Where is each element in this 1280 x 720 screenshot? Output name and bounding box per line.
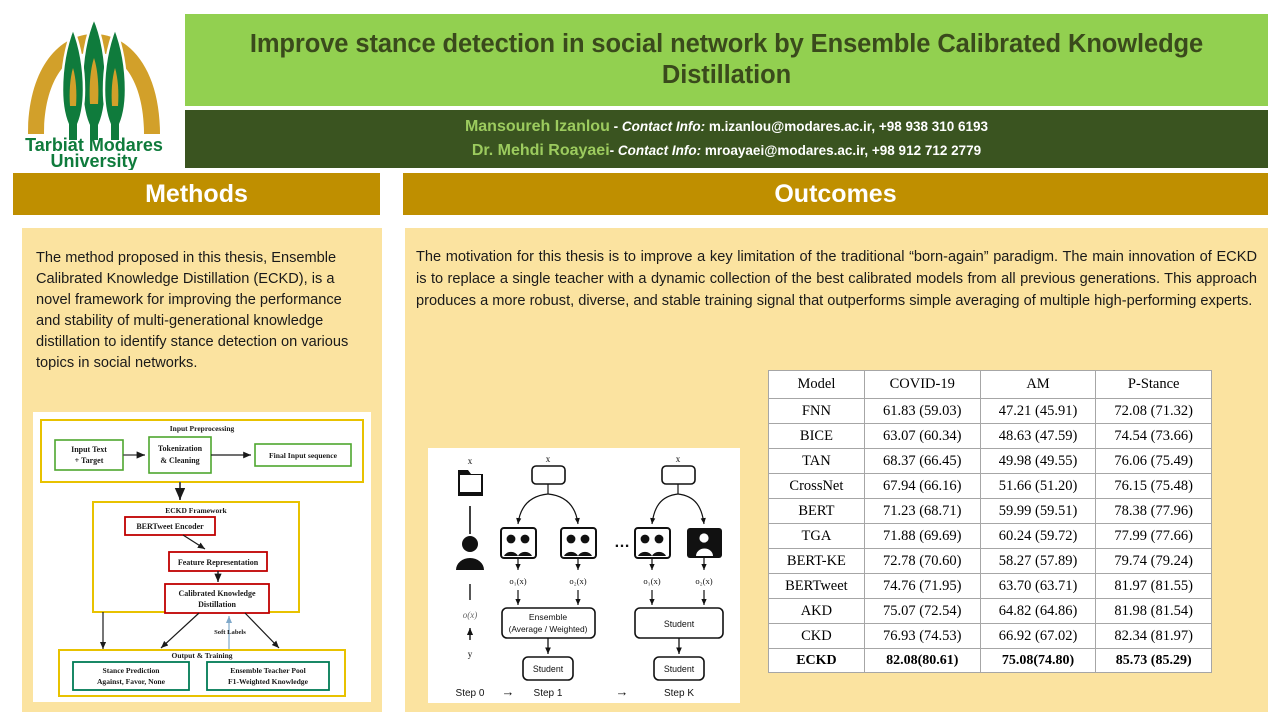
cell-covid: 71.88 (69.69) (864, 524, 980, 549)
distillation-steps-svg: x o(x) y x (428, 448, 740, 703)
outcomes-body-text: The motivation for this thesis is to imp… (416, 246, 1257, 313)
cell-am: 58.27 (57.89) (980, 549, 1096, 574)
table-row: FNN61.83 (59.03)47.21 (45.91)72.08 (71.3… (769, 399, 1212, 424)
cell-covid: 82.08(80.61) (864, 649, 980, 673)
poster-title-banner: Improve stance detection in social netwo… (185, 14, 1268, 106)
table-header-row: Model COVID-19 AM P-Stance (769, 371, 1212, 399)
method-flowchart-svg: Input Preprocessing Input Text + Target … (33, 412, 371, 702)
cell-pstance: 77.99 (77.66) (1096, 524, 1212, 549)
person-icon (456, 536, 484, 570)
results-table: Model COVID-19 AM P-Stance FNN61.83 (59.… (768, 370, 1212, 673)
step1-x-label: x (546, 454, 551, 464)
ensemble-label-2: (Average / Weighted) (509, 624, 588, 634)
soft-labels-caption: Soft Labels (214, 629, 246, 636)
cell-covid: 74.76 (71.95) (864, 574, 980, 599)
step1-o1-label: o₁(x) (509, 576, 526, 586)
column-header-model: Model (769, 371, 865, 399)
teacher-icon-2 (561, 528, 596, 558)
step-caption-0: Step 0 (456, 688, 485, 699)
step1-branch-left (518, 494, 548, 524)
arrow-ckd-to-pool (245, 613, 279, 648)
contact-value: mroayaei@modares.ac.ir, +98 912 712 2779 (701, 143, 981, 158)
cell-model: CKD (769, 624, 865, 649)
box-tokenization (149, 437, 211, 473)
step1-input-box (532, 466, 565, 484)
table-row: CKD76.93 (74.53)66.92 (67.02)82.34 (81.9… (769, 624, 1212, 649)
box-label-input-text-2: + Target (75, 456, 104, 465)
section-header-methods: Methods (13, 173, 380, 215)
cell-pstance: 82.34 (81.97) (1096, 624, 1212, 649)
author-name: Mansoureh Izanlou (465, 118, 610, 135)
cell-covid: 68.37 (66.45) (864, 449, 980, 474)
cell-am: 47.21 (45.91) (980, 399, 1096, 424)
column-header-pstance: P-Stance (1096, 371, 1212, 399)
cell-am: 49.98 (49.55) (980, 449, 1096, 474)
university-logo: Tarbiat Modares University (10, 12, 178, 170)
cell-covid: 67.94 (66.16) (864, 474, 980, 499)
teacher-icon-k (635, 528, 670, 558)
contact-value: m.izanlou@modares.ac.ir, +98 938 310 619… (705, 119, 988, 134)
table-row: BERTweet74.76 (71.95)63.70 (63.71)81.97 … (769, 574, 1212, 599)
cell-model: AKD (769, 599, 865, 624)
contact-label: Contact Info: (622, 119, 705, 134)
column-header-am: AM (980, 371, 1096, 399)
page-title: Improve stance detection in social netwo… (185, 29, 1268, 91)
cell-pstance: 79.74 (79.24) (1096, 549, 1212, 574)
step1-student-label: Student (533, 664, 564, 674)
step-caption-k: Step K (664, 688, 694, 699)
cell-pstance: 72.08 (71.32) (1096, 399, 1212, 424)
cell-model: TAN (769, 449, 865, 474)
box-label-encoder: BERTweet Encoder (136, 522, 204, 531)
contact-label: Contact Info: (618, 143, 701, 158)
cell-model: BERTweet (769, 574, 865, 599)
steps-ellipsis: … (614, 534, 630, 551)
step-arrow-1: → (502, 684, 515, 699)
stepk-branch-left (652, 494, 678, 524)
box-label-ckd-1: Calibrated Knowledge (178, 589, 256, 598)
arrow-encoder-to-feature (183, 535, 205, 549)
group-title-eckd: ECKD Framework (165, 506, 227, 515)
box-label-stance-1: Stance Prediction (102, 666, 160, 675)
cell-model: BERT (769, 499, 865, 524)
cell-covid: 75.07 (72.54) (864, 599, 980, 624)
author-separator: - (610, 143, 618, 158)
cell-covid: 61.83 (59.03) (864, 399, 980, 424)
table-row: CrossNet67.94 (66.16)51.66 (51.20)76.15 … (769, 474, 1212, 499)
step1-branch-right (548, 494, 578, 524)
stepk-student-label-bottom: Student (664, 664, 695, 674)
cell-am: 75.08(74.80) (980, 649, 1096, 673)
table-row: BICE63.07 (60.34)48.63 (47.59)74.54 (73.… (769, 424, 1212, 449)
box-label-stance-2: Against, Favor, None (97, 677, 166, 686)
table-row: BERT-KE72.78 (70.60)58.27 (57.89)79.74 (… (769, 549, 1212, 574)
group-title-output: Output & Training (172, 651, 233, 660)
stepk-o1-label: o₁(x) (643, 576, 660, 586)
cell-pstance: 76.15 (75.48) (1096, 474, 1212, 499)
author-name: Dr. Mehdi Roayaei (472, 142, 610, 159)
cell-pstance: 76.06 (75.49) (1096, 449, 1212, 474)
step-arrow-2: → (616, 684, 629, 699)
stepk-input-box (662, 466, 695, 484)
cell-pstance: 74.54 (73.66) (1096, 424, 1212, 449)
cell-model: FNN (769, 399, 865, 424)
cell-am: 63.70 (63.71) (980, 574, 1096, 599)
methods-body-text: The method proposed in this thesis, Ense… (36, 248, 358, 374)
cell-covid: 76.93 (74.53) (864, 624, 980, 649)
cell-covid: 71.23 (68.71) (864, 499, 980, 524)
box-label-tokenization-2: & Cleaning (160, 456, 199, 465)
method-flowchart-figure: Input Preprocessing Input Text + Target … (33, 412, 371, 702)
cell-pstance: 78.38 (77.96) (1096, 499, 1212, 524)
step0-y-label: y (468, 649, 473, 659)
step0-x-label: x (468, 456, 473, 466)
cell-pstance: 81.98 (81.54) (1096, 599, 1212, 624)
box-label-tokenization-1: Tokenization (158, 444, 203, 453)
step-caption-1: Step 1 (534, 688, 563, 699)
arrow-ckd-to-stance (161, 613, 199, 648)
teacher-icon-1 (501, 528, 536, 558)
cell-am: 60.24 (59.72) (980, 524, 1096, 549)
student-person-icon (687, 528, 722, 558)
distillation-steps-figure: x o(x) y x (428, 448, 740, 703)
section-header-outcomes: Outcomes (403, 173, 1268, 215)
box-label-input-text-1: Input Text (71, 445, 107, 454)
cell-model: BICE (769, 424, 865, 449)
cell-covid: 72.78 (70.60) (864, 549, 980, 574)
box-label-pool-1: Ensemble Teacher Pool (230, 666, 305, 675)
cell-model: BERT-KE (769, 549, 865, 574)
stepk-o2-label: o₂(x) (695, 576, 712, 586)
ensemble-label-1: Ensemble (529, 612, 567, 622)
cell-pstance: 85.73 (85.29) (1096, 649, 1212, 673)
step0-sigma-label: o(x) (463, 610, 478, 620)
authors-banner: Mansoureh Izanlou - Contact Info: m.izan… (185, 110, 1268, 168)
cell-am: 66.92 (67.02) (980, 624, 1096, 649)
cell-model: TGA (769, 524, 865, 549)
section-title-methods: Methods (145, 180, 248, 209)
logo-line2: University (50, 151, 137, 170)
cell-model: CrossNet (769, 474, 865, 499)
results-table-body: FNN61.83 (59.03)47.21 (45.91)72.08 (71.3… (769, 399, 1212, 673)
author-row: Dr. Mehdi Roayaei- Contact Info: mroayae… (472, 139, 981, 163)
cell-covid: 63.07 (60.34) (864, 424, 980, 449)
stepk-x-label: x (676, 454, 681, 464)
cell-am: 64.82 (64.86) (980, 599, 1096, 624)
poster-canvas: Tarbiat Modares University Improve stanc… (0, 0, 1280, 720)
author-row: Mansoureh Izanlou - Contact Info: m.izan… (465, 115, 988, 139)
box-label-ckd-2: Distillation (198, 600, 236, 609)
table-row: BERT71.23 (68.71)59.99 (59.51)78.38 (77.… (769, 499, 1212, 524)
column-header-covid: COVID-19 (864, 371, 980, 399)
logo-graphic: Tarbiat Modares University (10, 12, 178, 170)
cell-pstance: 81.97 (81.55) (1096, 574, 1212, 599)
step1-o2-label: o₂(x) (569, 576, 586, 586)
cell-am: 59.99 (59.51) (980, 499, 1096, 524)
box-label-pool-2: F1-Weighted Knowledge (228, 677, 309, 686)
table-row: ECKD82.08(80.61)75.08(74.80)85.73 (85.29… (769, 649, 1212, 673)
stepk-branch-right (678, 494, 704, 524)
table-row: TAN68.37 (66.45)49.98 (49.55)76.06 (75.4… (769, 449, 1212, 474)
cell-am: 51.66 (51.20) (980, 474, 1096, 499)
table-row: TGA71.88 (69.69)60.24 (59.72)77.99 (77.6… (769, 524, 1212, 549)
cell-model: ECKD (769, 649, 865, 673)
author-separator: - (610, 119, 622, 134)
box-label-final-sequence: Final Input sequence (269, 451, 338, 460)
table-row: AKD75.07 (72.54)64.82 (64.86)81.98 (81.5… (769, 599, 1212, 624)
cell-am: 48.63 (47.59) (980, 424, 1096, 449)
box-label-feature: Feature Representation (178, 558, 259, 567)
group-title-preprocessing: Input Preprocessing (170, 424, 235, 433)
stepk-student-label-top: Student (664, 619, 695, 629)
logo-leaves (62, 18, 126, 140)
section-title-outcomes: Outcomes (774, 180, 896, 209)
